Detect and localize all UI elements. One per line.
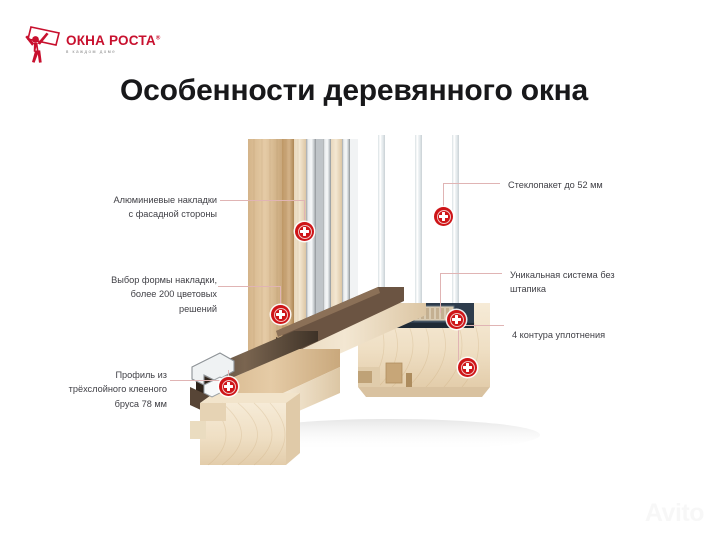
page-title: Особенности деревянного окна [120, 74, 680, 108]
marker-ring [437, 210, 451, 224]
brand-logo[interactable]: ОКНА РОСТА® в каждом доме [18, 22, 130, 66]
leader-no-bead-system [440, 273, 502, 274]
marker-glass-unit[interactable] [434, 207, 453, 226]
marker-ring [274, 308, 288, 322]
avito-wordmark: Avito [645, 501, 704, 526]
callout-three-layer-profile: Профиль из трёхслойного клееного бруса 7… [50, 368, 167, 411]
callout-no-bead-system: Уникальная система без штапика [510, 268, 662, 297]
marker-ring [461, 361, 475, 375]
marker-four-seal-contours[interactable] [458, 358, 477, 377]
marker-ring [298, 225, 312, 239]
marker-aluminium-overlays[interactable] [295, 222, 314, 241]
registered-mark: ® [156, 35, 161, 41]
leader-four-seal-contours-drop [458, 325, 459, 363]
marker-three-layer-profile[interactable] [219, 377, 238, 396]
avito-dots-icon [619, 503, 641, 525]
leader-aluminium-overlays [220, 200, 304, 201]
callout-aluminium-overlays: Алюминиевые накладки с фасадной стороны [85, 193, 217, 222]
man-with-banner-logo-icon [18, 23, 64, 65]
brand-name: ОКНА РОСТА® [66, 34, 161, 48]
brand-logo-text: ОКНА РОСТА® в каждом доме [66, 34, 161, 54]
callout-overlay-shapes-colors: Выбор формы накладки, более 200 цветовых… [80, 273, 217, 316]
marker-ring [222, 380, 236, 394]
marker-no-bead-system[interactable] [447, 310, 466, 329]
leader-no-bead-system-drop [440, 273, 441, 313]
brand-tagline: в каждом доме [66, 50, 161, 54]
marker-ring [450, 313, 464, 327]
callout-glass-unit: Стеклопакет до 52 мм [508, 178, 668, 192]
callout-four-seal-contours: 4 контура уплотнения [512, 328, 672, 342]
marker-overlay-shapes-colors[interactable] [271, 305, 290, 324]
leader-four-seal-contours [458, 325, 504, 326]
leader-glass-unit [443, 183, 500, 184]
slide-canvas: ОКНА РОСТА® в каждом доме Особенности де… [0, 0, 720, 540]
leader-overlay-shapes-colors [218, 286, 280, 287]
avito-watermark: Avito [619, 501, 704, 526]
